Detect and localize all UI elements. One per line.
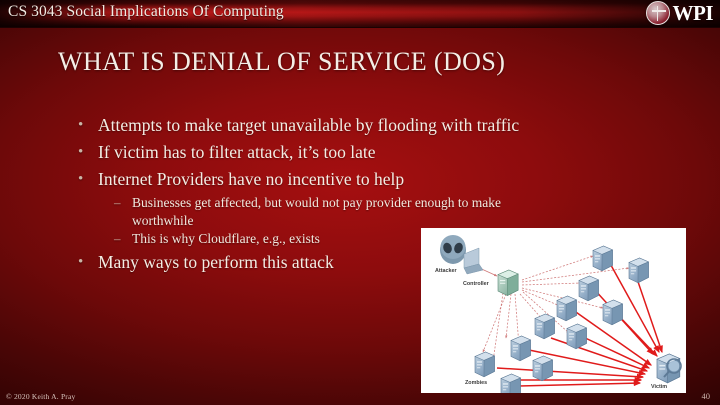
zombies-label: Zombies [465,380,487,386]
bullet-marker-icon: • [78,167,83,192]
bullet-text: Attempts to make target unavailable by f… [98,115,519,135]
dash-marker-icon: – [114,230,121,248]
presentation-slide: CS 3043 Social Implications Of Computing… [0,0,720,405]
bullet-item: • Internet Providers have no incentive t… [72,167,672,192]
wpi-logo-text: WPI [673,1,714,25]
sub-bullet-text-line1: Businesses get affected, but would not p… [132,194,672,212]
slide-header-banner: CS 3043 Social Implications Of Computing [0,0,720,28]
victim-label: Victim [651,384,667,390]
bullet-marker-icon: • [78,140,83,165]
controller-label: Controller [463,281,490,287]
wpi-logo: WPI [646,1,714,25]
bullet-item: • Attempts to make target unavailable by… [72,113,672,138]
bullet-marker-icon: • [78,113,83,138]
bullet-text: Many ways to perform this attack [98,252,334,272]
attacker-label: Attacker [435,268,457,274]
dash-marker-icon: – [114,194,121,212]
slide-number: 40 [702,391,711,401]
sub-bullet-item: – Businesses get affected, but would not… [72,194,672,230]
course-title: CS 3043 Social Implications Of Computing [8,3,284,21]
bullet-text: Internet Providers have no incentive to … [98,169,404,189]
slide-title: WHAT IS DENIAL OF SERVICE (DOS) [58,47,505,77]
wpi-seal-icon [646,1,670,25]
bullet-text: If victim has to filter attack, it’s too… [98,142,376,162]
ddos-attack-diagram: Attacker Controller [421,228,686,393]
bullet-item: • If victim has to filter attack, it’s t… [72,140,672,165]
copyright-notice: © 2020 Keith A. Pray [6,392,76,401]
bullet-marker-icon: • [78,250,83,275]
